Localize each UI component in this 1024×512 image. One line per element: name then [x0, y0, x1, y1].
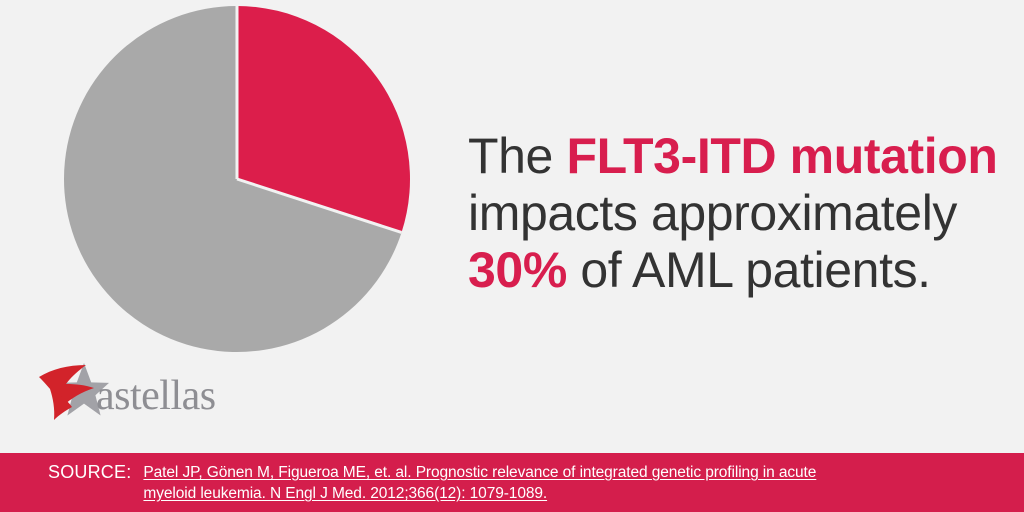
source-label: SOURCE: [48, 462, 131, 483]
source-banner: SOURCE: Patel JP, Gönen M, Figueroa ME, … [0, 453, 1024, 512]
source-citation[interactable]: Patel JP, Gönen M, Figueroa ME, et. al. … [143, 462, 976, 504]
source-citation-line-2[interactable]: myeloid leukemia. N Engl J Med. 2012;366… [143, 485, 547, 502]
astellas-logo: astellas [38, 358, 258, 422]
headline-line-1-prefix: The [468, 128, 566, 184]
headline: The FLT3-ITD mutation impacts approximat… [468, 128, 1008, 299]
headline-line-2: impacts approximately [468, 185, 1008, 242]
astellas-wordmark: astellas [96, 375, 216, 417]
headline-line-3: 30% of AML patients. [468, 242, 1008, 299]
headline-emphasis-percent: 30% [468, 242, 567, 298]
headline-emphasis-mutation: FLT3-ITD mutation [566, 128, 997, 184]
infographic-poster: The FLT3-ITD mutation impacts approximat… [0, 0, 1024, 512]
pie-chart [62, 4, 412, 354]
headline-line-3-suffix: of AML patients. [567, 242, 931, 298]
headline-line-1: The FLT3-ITD mutation [468, 128, 1008, 185]
source-citation-line-1[interactable]: Patel JP, Gönen M, Figueroa ME, et. al. … [143, 464, 816, 481]
